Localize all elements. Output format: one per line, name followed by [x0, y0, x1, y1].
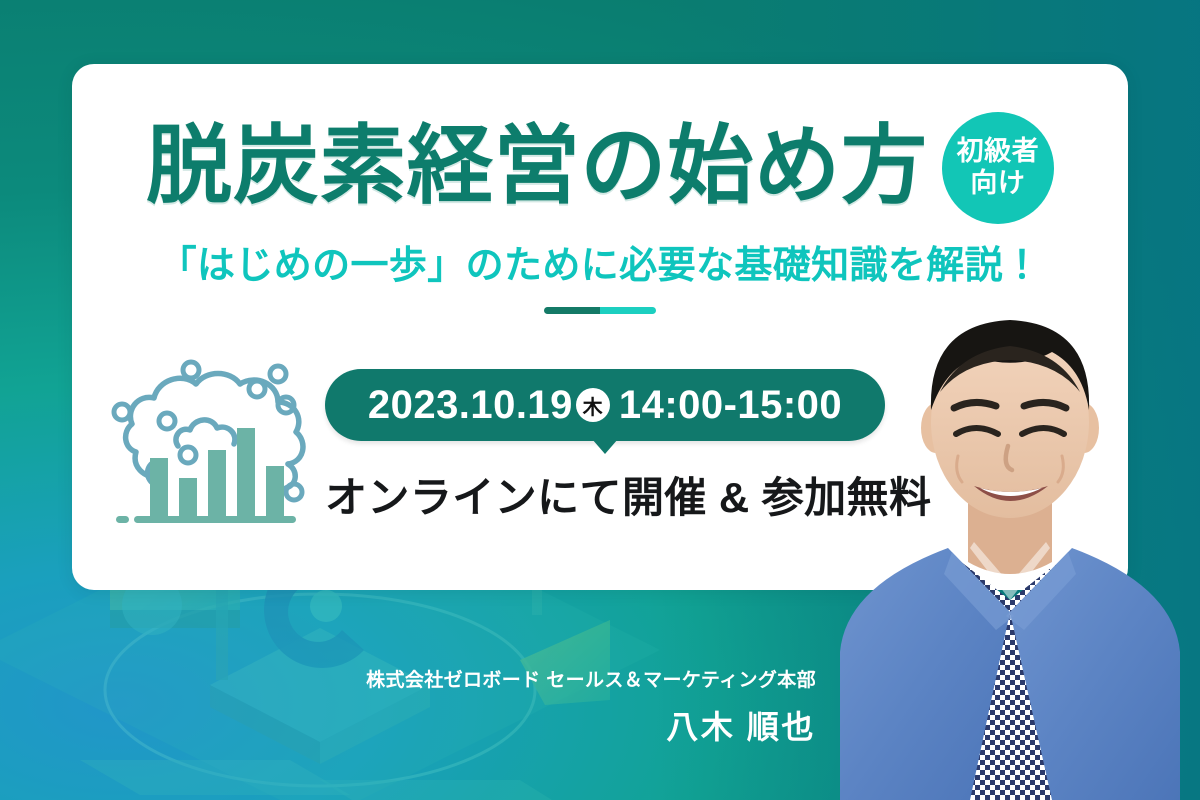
speaker-name: 八木 順也	[366, 702, 816, 748]
divider-left-segment	[544, 307, 600, 314]
banner-root: 脱炭素経営の始め方 初級者 向け 「はじめの一歩」のために必要な基礎知識を解説！	[0, 0, 1200, 800]
speaker-organization: 株式会社ゼロボード セールス＆マーケティング本部	[366, 665, 816, 692]
pill-tail	[592, 439, 618, 454]
event-date: 2023.10.19	[368, 383, 573, 428]
speaker-credit: 株式会社ゼロボード セールス＆マーケティング本部 八木 順也	[366, 665, 816, 748]
two-tone-divider	[544, 307, 656, 314]
title-row: 脱炭素経営の始め方 初級者 向け	[72, 108, 1128, 224]
date-pill-wrapper: 2023.10.19 木 14:00-15:00	[325, 369, 885, 441]
co2-cloud-barchart-icon	[102, 350, 332, 535]
date-time-pill: 2023.10.19 木 14:00-15:00	[325, 369, 885, 441]
divider-right-segment	[600, 307, 656, 314]
level-badge-line2: 向け	[970, 168, 1025, 200]
presenter-photo	[820, 300, 1200, 800]
subtitle: 「はじめの一歩」のために必要な基礎知識を解説！	[72, 234, 1128, 289]
date-time-text: 2023.10.19 木 14:00-15:00	[368, 383, 842, 428]
weekday-circle: 木	[576, 388, 610, 422]
level-badge-line1: 初級者	[957, 136, 1040, 168]
event-time: 14:00-15:00	[619, 383, 842, 428]
venue-text: オンラインにて開催 & 参加無料	[325, 464, 885, 525]
level-badge: 初級者 向け	[942, 112, 1054, 224]
page-title: 脱炭素経営の始め方	[146, 123, 928, 209]
